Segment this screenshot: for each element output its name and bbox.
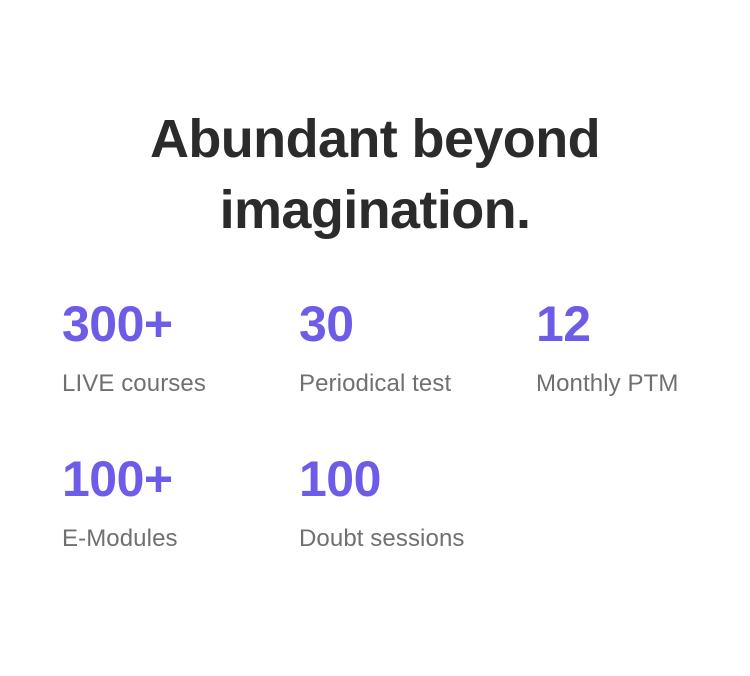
stat-value: 12	[536, 298, 722, 350]
stat-item-periodical-test: 30 Periodical test	[299, 298, 536, 453]
stat-item-e-modules: 100+ E-Modules	[62, 453, 299, 608]
stat-value: 300+	[62, 298, 299, 350]
stat-label: Periodical test	[299, 370, 536, 398]
stat-label: Monthly PTM	[536, 370, 722, 398]
page-title: Abundant beyond imagination.	[140, 104, 610, 246]
stats-section: Abundant beyond imagination. 300+ LIVE c…	[0, 0, 750, 676]
stats-grid: 300+ LIVE courses 30 Periodical test 12 …	[62, 298, 722, 608]
stat-item-live-courses: 300+ LIVE courses	[62, 298, 299, 453]
stat-item-placeholder	[536, 453, 722, 608]
stat-value: 100	[299, 453, 536, 505]
stat-item-doubt-sessions: 100 Doubt sessions	[299, 453, 536, 608]
stat-label: E-Modules	[62, 525, 299, 553]
stat-label: Doubt sessions	[299, 525, 536, 553]
headline-container: Abundant beyond imagination.	[0, 104, 750, 246]
stat-value: 100+	[62, 453, 299, 505]
stat-value: 30	[299, 298, 536, 350]
stat-label: LIVE courses	[62, 370, 299, 398]
stat-item-monthly-ptm: 12 Monthly PTM	[536, 298, 722, 453]
